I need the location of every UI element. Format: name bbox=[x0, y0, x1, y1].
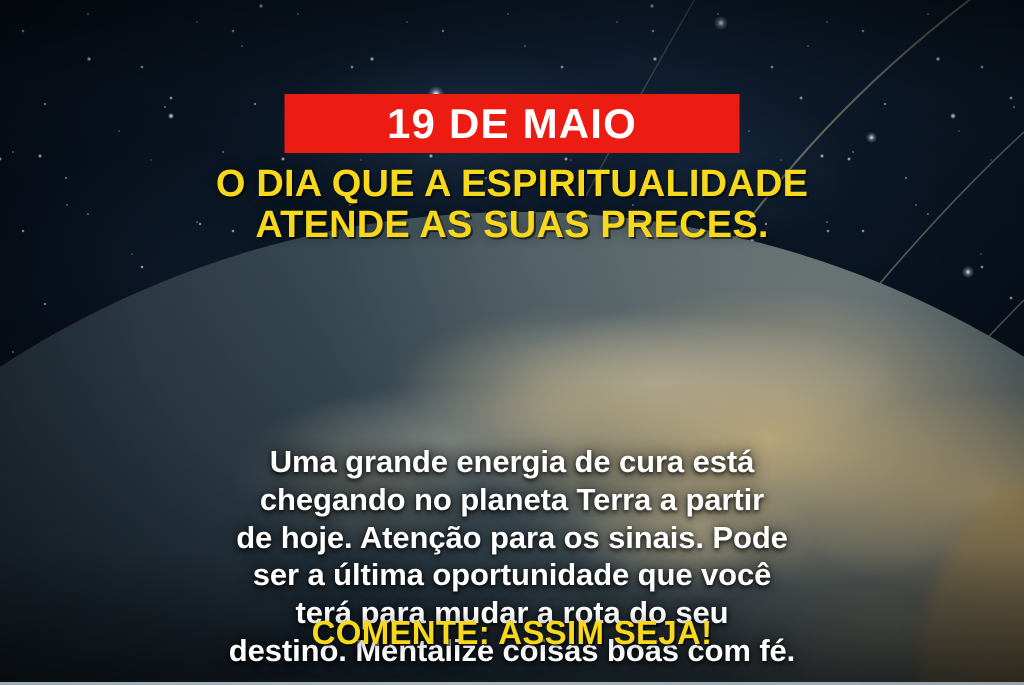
poster-content: 19 DE MAIO O DIA QUE A ESPIRITUALIDADE A… bbox=[0, 0, 1024, 685]
headline: O DIA QUE A ESPIRITUALIDADE ATENDE AS SU… bbox=[0, 164, 1024, 246]
body-line-2: chegando no planeta Terra a partir bbox=[52, 481, 972, 519]
social-media-poster: 19 DE MAIO O DIA QUE A ESPIRITUALIDADE A… bbox=[0, 0, 1024, 685]
call-to-action: COMENTE: ASSIM SEJA! bbox=[0, 614, 1024, 652]
date-banner: 19 DE MAIO bbox=[285, 94, 740, 153]
headline-line-2: ATENDE AS SUAS PRECES. bbox=[0, 205, 1024, 246]
body-line-3: de hoje. Atenção para os sinais. Pode bbox=[52, 519, 972, 557]
body-line-4: ser a última oportunidade que você bbox=[52, 556, 972, 594]
body-line-1: Uma grande energia de cura está bbox=[52, 443, 972, 481]
headline-line-1: O DIA QUE A ESPIRITUALIDADE bbox=[216, 163, 808, 205]
date-banner-label: 19 DE MAIO bbox=[387, 103, 637, 145]
